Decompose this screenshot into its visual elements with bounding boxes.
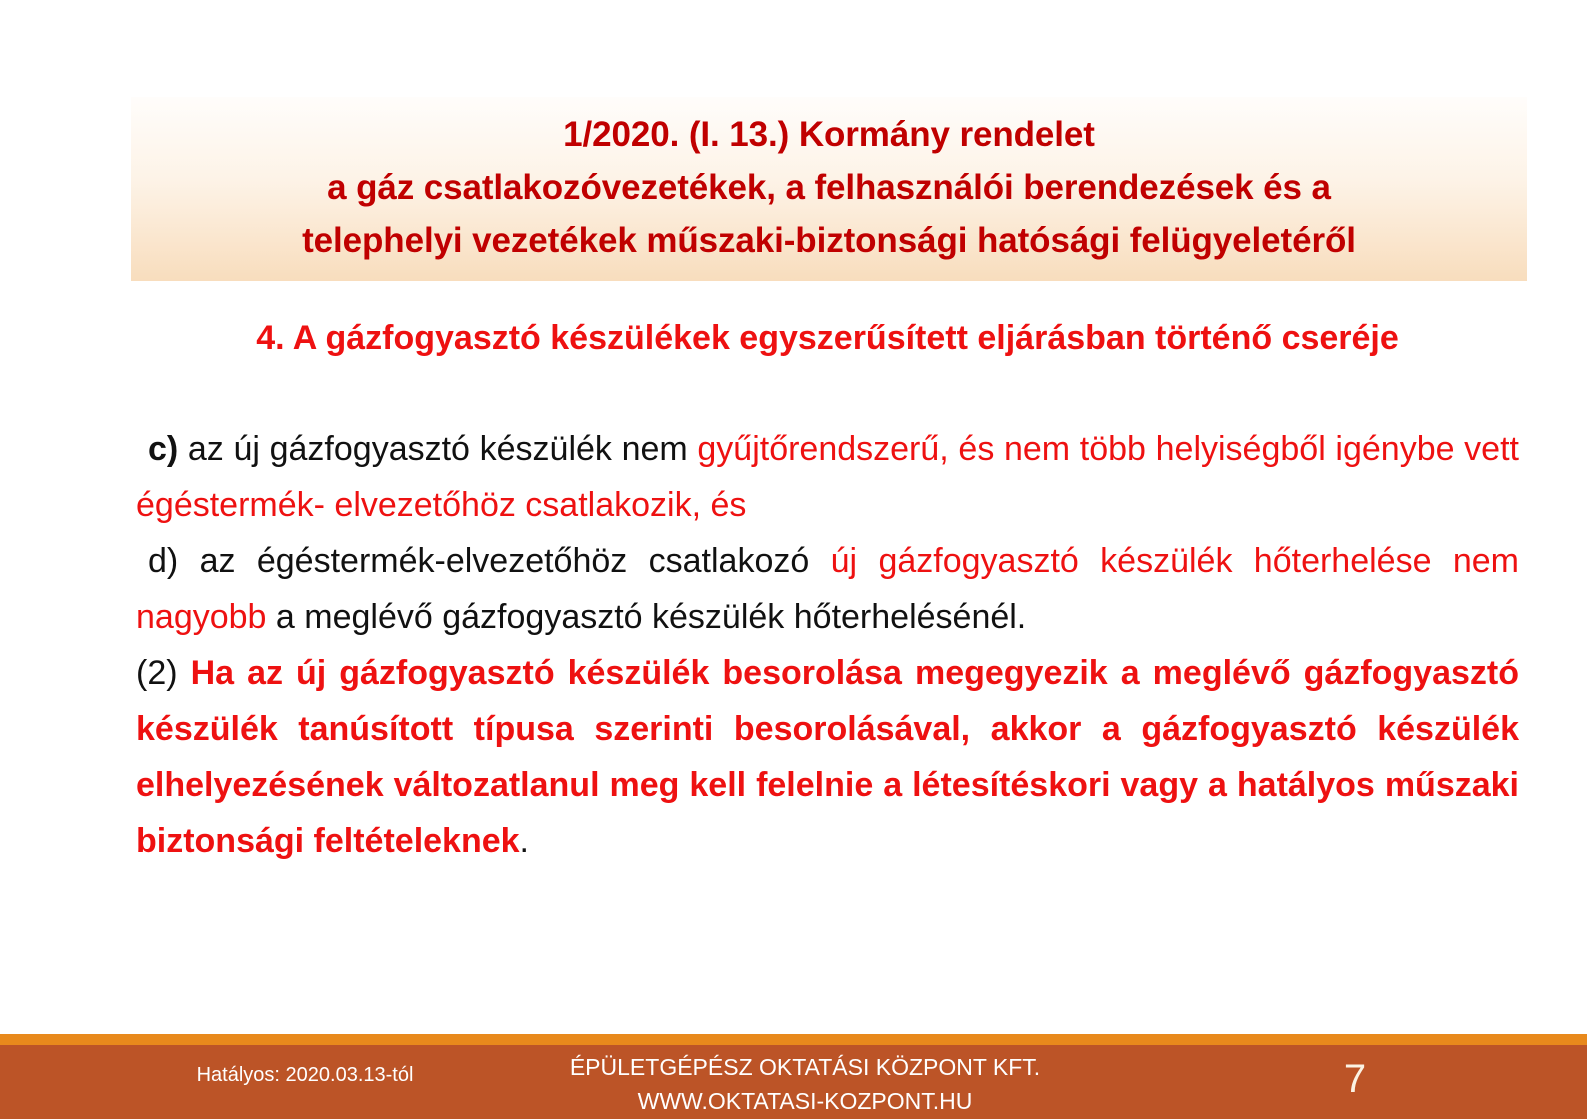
- paragraph-2-black-end: .: [520, 822, 529, 860]
- footer-company-name: ÉPÜLETGÉPÉSZ OKTATÁSI KÖZPONT KFT.: [480, 1050, 1130, 1084]
- paragraph-d: d) az égéstermék-elvezetőhöz csatlakozó …: [136, 533, 1519, 645]
- paragraph-2-marker: (2): [136, 654, 191, 692]
- title-line-2: a gáz csatlakozóvezetékek, a felhasználó…: [327, 161, 1331, 214]
- paragraph-2-red-1: Ha az új gázfogyasztó készülék besorolás…: [136, 654, 1519, 860]
- section-heading: 4. A gázfogyasztó készülékek egyszerűsít…: [135, 313, 1520, 364]
- paragraph-2: (2) Ha az új gázfogyasztó készülék besor…: [136, 645, 1519, 869]
- paragraph-c: c) az új gázfogyasztó készülék nem gyűjt…: [136, 421, 1519, 533]
- paragraph-c-marker: c): [148, 430, 178, 468]
- paragraph-d-black-2: a meglévő gázfogyasztó készülék hőterhel…: [266, 598, 1026, 636]
- footer-website: WWW.OKTATASI-KOZPONT.HU: [480, 1084, 1130, 1118]
- title-banner: 1/2020. (I. 13.) Kormány rendelet a gáz …: [131, 97, 1527, 281]
- paragraph-d-black-1: az égéstermék-elvezetőhöz csatlakozó: [178, 542, 830, 580]
- footer-accent-stripe: [0, 1034, 1587, 1045]
- title-line-1: 1/2020. (I. 13.) Kormány rendelet: [563, 108, 1095, 161]
- paragraph-d-marker: d): [148, 542, 178, 580]
- footer-validity-text: Hatályos: 2020.03.13-tól: [140, 1062, 470, 1088]
- footer-company-block: ÉPÜLETGÉPÉSZ OKTATÁSI KÖZPONT KFT. WWW.O…: [480, 1050, 1130, 1118]
- title-line-3: telephelyi vezetékek műszaki-biztonsági …: [302, 214, 1356, 267]
- paragraph-c-black-1: az új gázfogyasztó készülék nem: [178, 430, 697, 468]
- page-number: 7: [1310, 1053, 1400, 1105]
- body-text: c) az új gázfogyasztó készülék nem gyűjt…: [136, 421, 1519, 869]
